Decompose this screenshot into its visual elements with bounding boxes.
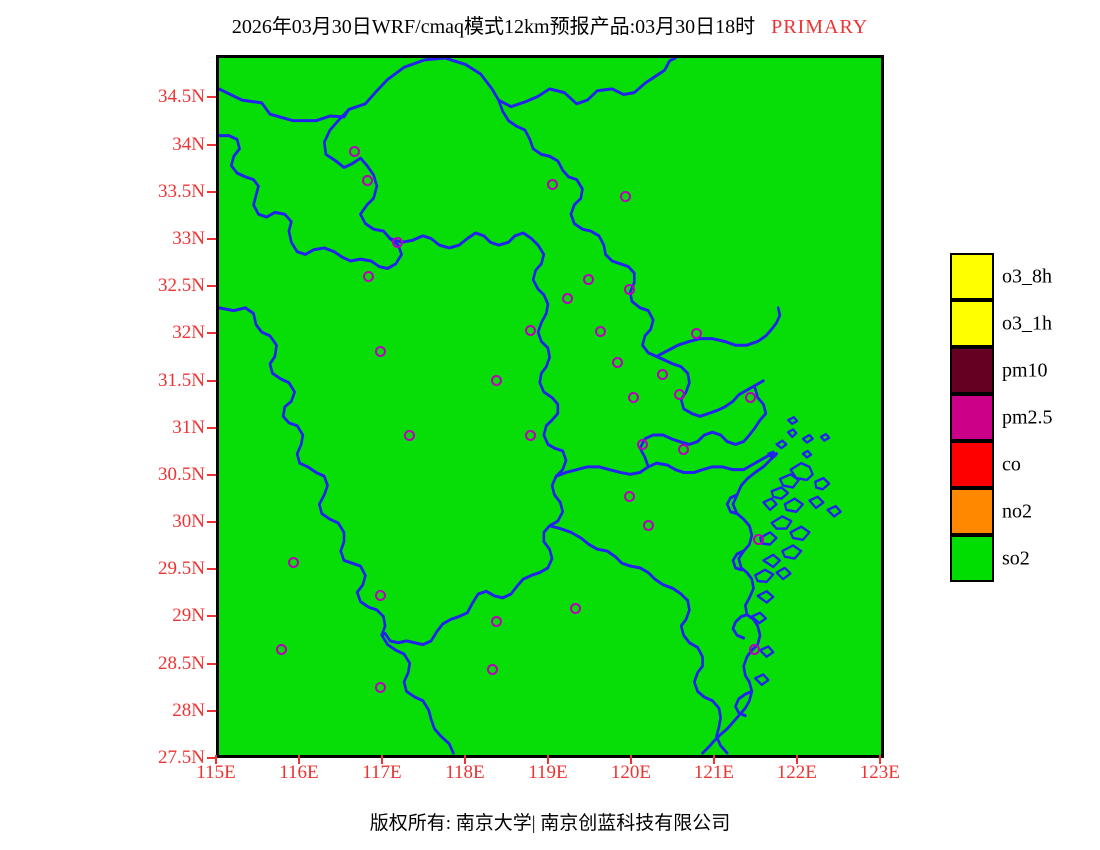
copyright-footer: 版权所有: 南京大学| 南京创蓝科技有限公司	[0, 808, 1100, 835]
y-axis-tick-mark	[207, 285, 216, 287]
station-marker[interactable]	[491, 375, 502, 386]
legend-label-o3-8h: o3_8h	[1002, 265, 1052, 288]
x-axis-tick-label: 119E	[508, 762, 588, 784]
x-axis-tick-label: 122E	[757, 762, 837, 784]
x-axis-tick-label: 117E	[342, 762, 422, 784]
x-axis-tick-mark	[381, 755, 383, 764]
legend-item-no2[interactable]: no2	[950, 488, 1095, 535]
station-marker[interactable]	[525, 325, 536, 336]
station-marker[interactable]	[691, 328, 702, 339]
station-marker[interactable]	[276, 644, 287, 655]
station-marker[interactable]	[624, 491, 635, 502]
x-axis-tick-label: 115E	[176, 762, 256, 784]
legend-swatch-so2	[950, 535, 994, 582]
y-axis-tick-label: 29.5N	[110, 558, 205, 580]
station-marker[interactable]	[620, 191, 631, 202]
station-marker[interactable]	[362, 175, 373, 186]
station-marker[interactable]	[749, 644, 760, 655]
station-marker[interactable]	[363, 271, 374, 282]
y-axis-tick-label: 33.5N	[110, 181, 205, 203]
y-axis-tick-mark	[207, 615, 216, 617]
y-axis-tick-mark	[207, 191, 216, 193]
station-marker[interactable]	[288, 557, 299, 568]
y-axis-tick-label: 28.5N	[110, 653, 205, 675]
y-axis-tick-label: 32.5N	[110, 275, 205, 297]
legend-label-pm10: pm10	[1002, 359, 1048, 382]
y-axis-tick-label: 28N	[110, 700, 205, 722]
legend-item-o3-8h[interactable]: o3_8h	[950, 253, 1095, 300]
y-axis-tick-label: 33N	[110, 228, 205, 250]
station-marker[interactable]	[745, 392, 756, 403]
legend-item-pm2-5[interactable]: pm2.5	[950, 394, 1095, 441]
legend-swatch-o3-1h	[950, 300, 994, 347]
station-marker[interactable]	[643, 520, 654, 531]
y-axis-tick-label: 31.5N	[110, 370, 205, 392]
station-marker[interactable]	[375, 590, 386, 601]
station-marker[interactable]	[583, 274, 594, 285]
y-axis-tick-mark	[207, 521, 216, 523]
legend-label-o3-1h: o3_1h	[1002, 312, 1052, 335]
title-primary-tag: PRIMARY	[771, 16, 868, 38]
map-plot-area	[216, 55, 884, 758]
y-axis-tick-mark	[207, 144, 216, 146]
y-axis-tick-label: 30N	[110, 511, 205, 533]
legend-item-o3-1h[interactable]: o3_1h	[950, 300, 1095, 347]
x-axis-tick-label: 116E	[259, 762, 339, 784]
x-axis-tick-mark	[879, 755, 881, 764]
y-axis-tick-label: 29N	[110, 605, 205, 627]
pollutant-legend: o3_8ho3_1hpm10pm2.5cono2so2	[950, 253, 1095, 582]
station-marker[interactable]	[562, 293, 573, 304]
y-axis-tick-mark	[207, 96, 216, 98]
y-axis-tick-label: 34.5N	[110, 86, 205, 108]
x-axis-tick-label: 118E	[425, 762, 505, 784]
y-axis-tick-label: 34N	[110, 134, 205, 156]
x-axis-tick-mark	[464, 755, 466, 764]
station-marker[interactable]	[637, 439, 648, 450]
legend-item-so2[interactable]: so2	[950, 535, 1095, 582]
legend-label-co: co	[1002, 453, 1021, 476]
station-marker[interactable]	[547, 179, 558, 190]
station-marker[interactable]	[487, 664, 498, 675]
legend-item-pm10[interactable]: pm10	[950, 347, 1095, 394]
legend-swatch-pm10	[950, 347, 994, 394]
y-axis-tick-label: 31N	[110, 417, 205, 439]
station-marker[interactable]	[595, 326, 606, 337]
x-axis-tick-label: 121E	[674, 762, 754, 784]
x-axis-tick-mark	[215, 755, 217, 764]
x-axis-tick-label: 123E	[840, 762, 920, 784]
y-axis-tick-mark	[207, 710, 216, 712]
chart-title: 2026年03月30日WRF/cmaq模式12km预报产品:03月30日18时P…	[0, 10, 1100, 39]
y-axis-tick-mark	[207, 380, 216, 382]
station-marker[interactable]	[375, 346, 386, 357]
title-main-text: 2026年03月30日WRF/cmaq模式12km预报产品:03月30日18时	[232, 16, 755, 38]
station-marker[interactable]	[404, 430, 415, 441]
y-axis-tick-mark	[207, 474, 216, 476]
station-marker[interactable]	[657, 369, 668, 380]
y-axis-tick-mark	[207, 427, 216, 429]
station-marker[interactable]	[525, 430, 536, 441]
station-marker-layer	[219, 58, 881, 755]
station-marker[interactable]	[392, 237, 403, 248]
legend-item-co[interactable]: co	[950, 441, 1095, 488]
x-axis-tick-label: 120E	[591, 762, 671, 784]
y-axis-tick-label: 30.5N	[110, 464, 205, 486]
y-axis-tick-mark	[207, 238, 216, 240]
legend-label-pm2-5: pm2.5	[1002, 406, 1053, 429]
station-marker[interactable]	[570, 603, 581, 614]
x-axis-tick-mark	[713, 755, 715, 764]
station-marker[interactable]	[624, 284, 635, 295]
station-marker[interactable]	[375, 682, 386, 693]
station-marker[interactable]	[491, 616, 502, 627]
x-axis-tick-mark	[547, 755, 549, 764]
x-axis-tick-mark	[298, 755, 300, 764]
y-axis-tick-mark	[207, 663, 216, 665]
y-axis-tick-mark	[207, 332, 216, 334]
y-axis-tick-mark	[207, 568, 216, 570]
legend-swatch-co	[950, 441, 994, 488]
station-marker[interactable]	[628, 392, 639, 403]
legend-label-no2: no2	[1002, 500, 1032, 523]
station-marker[interactable]	[349, 146, 360, 157]
legend-swatch-pm2-5	[950, 394, 994, 441]
legend-swatch-o3-8h	[950, 253, 994, 300]
legend-swatch-no2	[950, 488, 994, 535]
station-marker[interactable]	[753, 534, 764, 545]
station-marker[interactable]	[612, 357, 623, 368]
x-axis-tick-mark	[796, 755, 798, 764]
y-axis-tick-label: 32N	[110, 322, 205, 344]
station-marker[interactable]	[674, 389, 685, 400]
station-marker[interactable]	[678, 444, 689, 455]
x-axis-tick-mark	[630, 755, 632, 764]
legend-label-so2: so2	[1002, 547, 1030, 570]
